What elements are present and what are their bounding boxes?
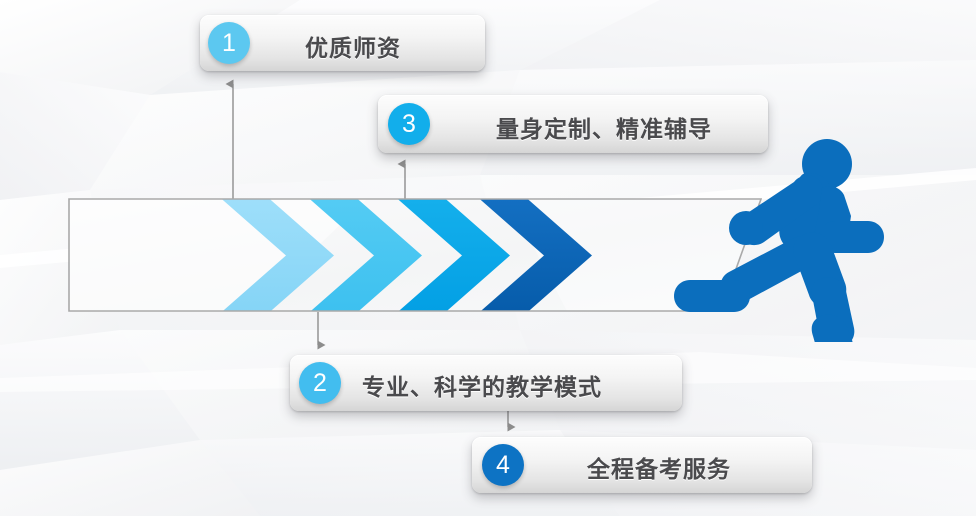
card-2-label: 专业、科学的教学模式 bbox=[362, 368, 602, 402]
card-1-label: 优质师资 bbox=[305, 29, 401, 63]
card-3-label: 量身定制、精准辅导 bbox=[496, 110, 712, 144]
card-4-number-badge: 4 bbox=[482, 444, 524, 486]
card-1-number: 1 bbox=[222, 31, 236, 56]
feature-card-1[interactable]: 1 优质师资 bbox=[200, 15, 485, 71]
slide-canvas: 1 优质师资 3 量身定制、精准辅导 2 专业、科学的教学模式 4 全程备考服务 bbox=[0, 0, 976, 516]
card-1-number-badge: 1 bbox=[208, 22, 250, 64]
card-4-number: 4 bbox=[496, 453, 510, 478]
card-3-number: 3 bbox=[402, 112, 416, 137]
progress-band bbox=[68, 198, 762, 313]
card-3-number-badge: 3 bbox=[388, 103, 430, 145]
feature-card-3[interactable]: 3 量身定制、精准辅导 bbox=[378, 95, 768, 153]
feature-card-4[interactable]: 4 全程备考服务 bbox=[472, 437, 812, 493]
running-person-icon bbox=[672, 136, 888, 342]
card-2-number: 2 bbox=[313, 371, 327, 396]
card-2-number-badge: 2 bbox=[299, 362, 341, 404]
card-4-label: 全程备考服务 bbox=[587, 450, 731, 484]
feature-card-2[interactable]: 2 专业、科学的教学模式 bbox=[290, 355, 682, 411]
